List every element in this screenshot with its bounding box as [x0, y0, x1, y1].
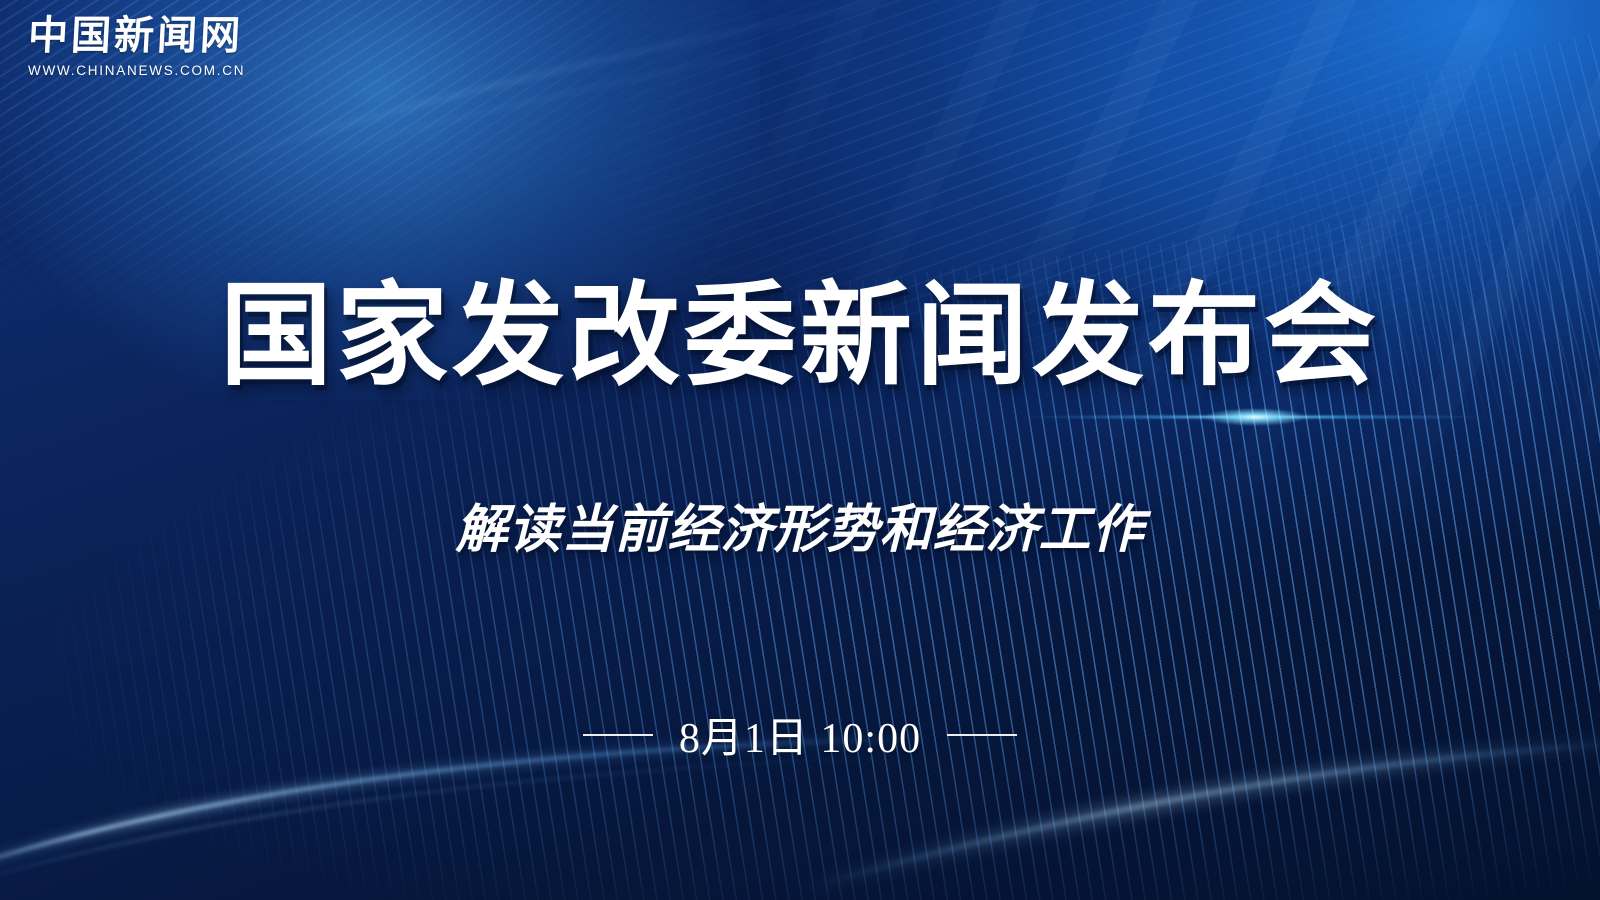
- datetime-row: 8月1日 10:00: [583, 704, 1017, 765]
- poster-canvas: 中国新闻网 WWW.CHINANEWS.COM.CN 国家发改委新闻发布会 解读…: [0, 0, 1600, 900]
- page-title: 国家发改委新闻发布会: [220, 276, 1380, 397]
- site-logo[interactable]: 中国新闻网 WWW.CHINANEWS.COM.CN: [28, 16, 245, 78]
- poster-content: 国家发改委新闻发布会 解读当前经济形势和经济工作 8月1日 10:00: [0, 0, 1600, 900]
- site-logo-name: 中国新闻网: [27, 16, 246, 56]
- divider-left: [583, 734, 653, 736]
- divider-right: [947, 734, 1017, 736]
- page-subtitle: 解读当前经济形势和经济工作: [455, 502, 1144, 559]
- site-logo-url: WWW.CHINANEWS.COM.CN: [28, 63, 245, 78]
- event-datetime: 8月1日 10:00: [679, 704, 921, 765]
